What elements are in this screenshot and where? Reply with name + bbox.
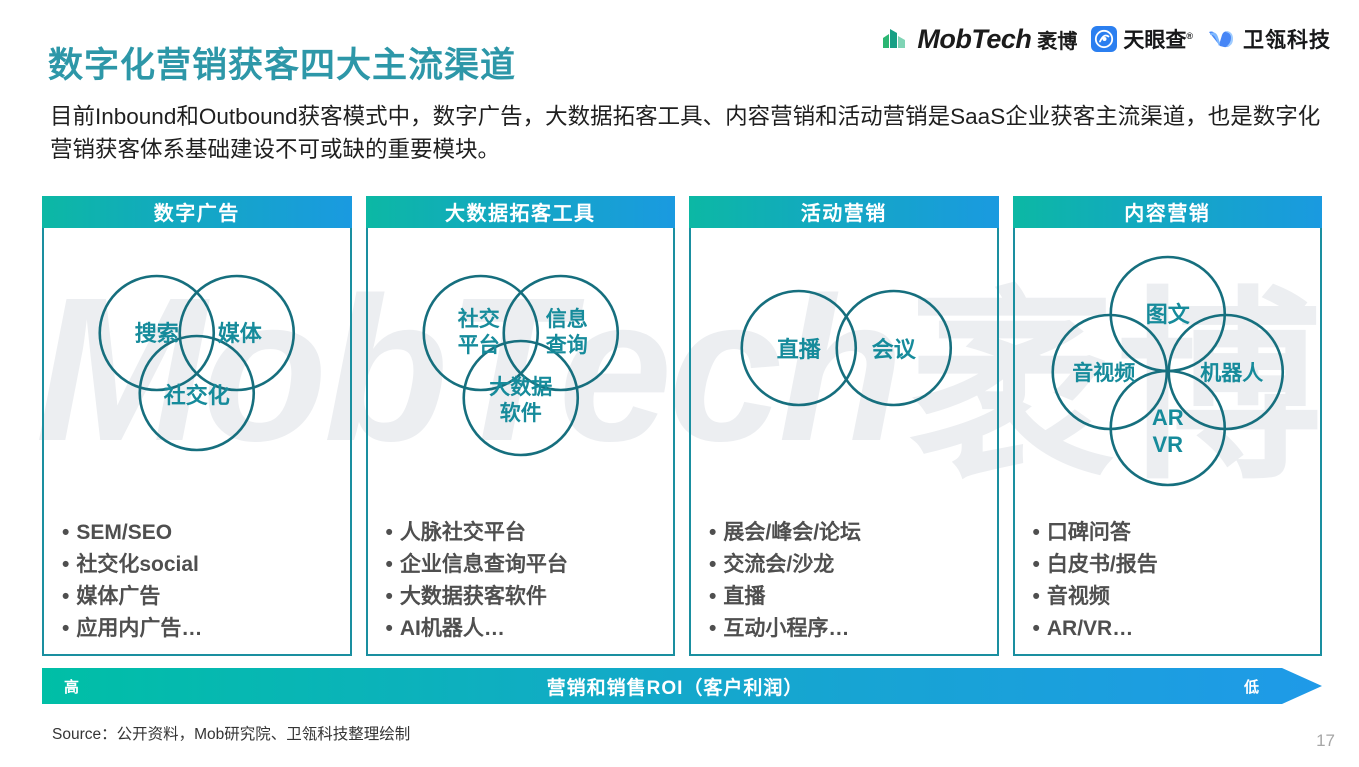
venn-diagram-bigdata-tools: 社交 平台 信息 查询 大数据 软件 [368,228,674,518]
bullet-list: •展会/峰会/论坛 •交流会/沙龙 •直播 •互动小程序… [691,518,997,654]
venn-diagram-event-marketing: 直播 会议 [691,228,997,518]
mobtech-wordmark: MobTech [917,24,1031,55]
column-header: 数字广告 [42,196,352,228]
venn-label-1a: 社交 [456,307,499,331]
bullet-text: 应用内广告… [76,617,202,640]
weipin-mark-icon [1207,26,1237,52]
bullet-dot-icon: • [1033,585,1040,608]
column-bigdata-tools: 大数据拓客工具 社交 平台 信息 查询 大数据 软件 •人脉社交平台 •企业信息… [366,196,676,656]
bullet-dot-icon: • [386,585,393,608]
bullet-list: •SEM/SEO •社交化social •媒体广告 •应用内广告… [44,518,350,654]
venn-label-2a: 信息 [545,307,587,331]
bullet-list: •人脉社交平台 •企业信息查询平台 •大数据获客软件 •AI机器人… [368,518,674,654]
page-title: 数字化营销获客四大主流渠道 [48,37,516,88]
registered-mark-icon: ® [1186,31,1193,41]
venn-label-2b: 查询 [545,333,587,357]
venn-label-2: 会议 [872,337,917,362]
list-item: •应用内广告… [62,614,350,644]
bullet-text: 白皮书/报告 [1047,553,1158,576]
bullet-text: 大数据获客软件 [400,585,547,608]
venn-label-1: 搜索 [135,321,179,346]
bullet-text: 直播 [723,585,765,608]
list-item: •直播 [709,582,997,612]
bullet-text: 媒体广告 [76,585,160,608]
bullet-text: SEM/SEO [76,521,172,544]
column-digital-advertising: 数字广告 搜索 媒体 社交化 •SEM/SEO •社交化social •媒体广告… [42,196,352,656]
source-note: Source：公开资料，Mob研究院、卫瓴科技整理绘制 [52,722,410,744]
venn-label-right: 机器人 [1200,361,1263,385]
bullet-list: •口碑问答 •白皮书/报告 •音视频 •AR/VR… [1015,518,1321,654]
bullet-dot-icon: • [1033,617,1040,640]
roi-left-label: 高 [64,676,80,697]
bullet-dot-icon: • [62,617,69,640]
venn-label-3a: 大数据 [489,376,552,399]
weipin-wordmark: 卫瓴科技 [1243,24,1331,54]
column-content-marketing: 内容营销 图文 音视频 机器人 AR VR •口碑问答 •白皮书/报告 •音 [1013,196,1323,656]
list-item: •展会/峰会/论坛 [709,518,997,548]
column-header: 活动营销 [689,196,999,228]
channel-columns: 数字广告 搜索 媒体 社交化 •SEM/SEO •社交化social •媒体广告… [42,196,1322,656]
venn-label-3b: 软件 [499,401,541,425]
tianyancha-text: 天眼查 [1123,29,1186,52]
bullet-dot-icon: • [386,553,393,576]
venn-label-left: 音视频 [1072,361,1135,385]
bullet-dot-icon: • [62,521,69,544]
list-item: •交流会/沙龙 [709,550,997,580]
column-body: 直播 会议 •展会/峰会/论坛 •交流会/沙龙 •直播 •互动小程序… [689,228,999,656]
bullet-dot-icon: • [62,553,69,576]
roi-center-label: 营销和销售ROI（客户利润） [42,673,1322,700]
list-item: •口碑问答 [1033,518,1321,548]
venn-label-bottom-b: VR [1152,432,1183,457]
bullet-dot-icon: • [386,617,393,640]
list-item: •媒体广告 [62,582,350,612]
list-item: •SEM/SEO [62,518,350,548]
venn-label-top: 图文 [1145,302,1190,327]
bullet-text: AR/VR… [1047,617,1133,640]
bullet-dot-icon: • [709,521,716,544]
mobtech-cn-wordmark: 袤博 [1037,25,1077,54]
venn-diagram-content-marketing: 图文 音视频 机器人 AR VR [1015,228,1321,518]
page-subtitle: 目前Inbound和Outbound获客模式中，数字广告，大数据拓客工具、内容营… [50,100,1333,167]
column-body: 图文 音视频 机器人 AR VR •口碑问答 •白皮书/报告 •音视频 •AR/… [1013,228,1323,656]
list-item: •大数据获客软件 [386,582,674,612]
list-item: •社交化social [62,550,350,580]
bullet-dot-icon: • [709,553,716,576]
bullet-dot-icon: • [709,585,716,608]
tianyancha-logo: 天眼查® [1091,24,1193,54]
venn-label-1: 直播 [777,337,822,362]
venn-diagram-digital-advertising: 搜索 媒体 社交化 [44,228,350,518]
weipin-logo: 卫瓴科技 [1207,24,1331,54]
column-event-marketing: 活动营销 直播 会议 •展会/峰会/论坛 •交流会/沙龙 •直播 •互动小程序… [689,196,999,656]
roi-right-label: 低 [1244,676,1260,697]
venn-label-1b: 平台 [457,333,499,357]
list-item: •音视频 [1033,582,1321,612]
roi-bar-content: 高 营销和销售ROI（客户利润） 低 [42,668,1322,704]
page-number: 17 [1316,731,1335,751]
list-item: •人脉社交平台 [386,518,674,548]
list-item: •AI机器人… [386,614,674,644]
venn-label-3: 社交化 [164,383,230,408]
bullet-text: 企业信息查询平台 [400,553,568,576]
bullet-dot-icon: • [62,585,69,608]
bullet-dot-icon: • [1033,553,1040,576]
tianyancha-mark-icon [1091,26,1117,52]
venn-circle-2 [503,276,617,390]
column-header: 内容营销 [1013,196,1323,228]
bullet-text: 社交化social [76,553,199,576]
mobtech-logo: MobTech 袤博 [881,24,1077,55]
bullet-text: 展会/峰会/论坛 [723,521,861,544]
list-item: •互动小程序… [709,614,997,644]
venn-label-2: 媒体 [218,321,263,346]
tianyancha-wordmark: 天眼查® [1123,24,1193,54]
bullet-dot-icon: • [386,521,393,544]
list-item: •企业信息查询平台 [386,550,674,580]
list-item: •白皮书/报告 [1033,550,1321,580]
venn-label-bottom-a: AR [1151,405,1183,430]
list-item: •AR/VR… [1033,614,1321,644]
bullet-dot-icon: • [1033,521,1040,544]
bullet-text: 口碑问答 [1047,521,1131,544]
bullet-text: 音视频 [1047,585,1110,608]
bullet-text: AI机器人… [400,617,505,640]
bullet-text: 人脉社交平台 [400,521,526,544]
bullet-dot-icon: • [709,617,716,640]
column-header: 大数据拓客工具 [366,196,676,228]
column-body: 搜索 媒体 社交化 •SEM/SEO •社交化social •媒体广告 •应用内… [42,228,352,656]
roi-arrow-bar: 高 营销和销售ROI（客户利润） 低 [42,668,1322,704]
column-body: 社交 平台 信息 查询 大数据 软件 •人脉社交平台 •企业信息查询平台 •大数… [366,228,676,656]
mobtech-mark-icon [881,26,911,52]
bullet-text: 互动小程序… [723,617,849,640]
bullet-text: 交流会/沙龙 [723,553,834,576]
logo-bar: MobTech 袤博 天眼查® 卫瓴科技 [881,18,1331,60]
